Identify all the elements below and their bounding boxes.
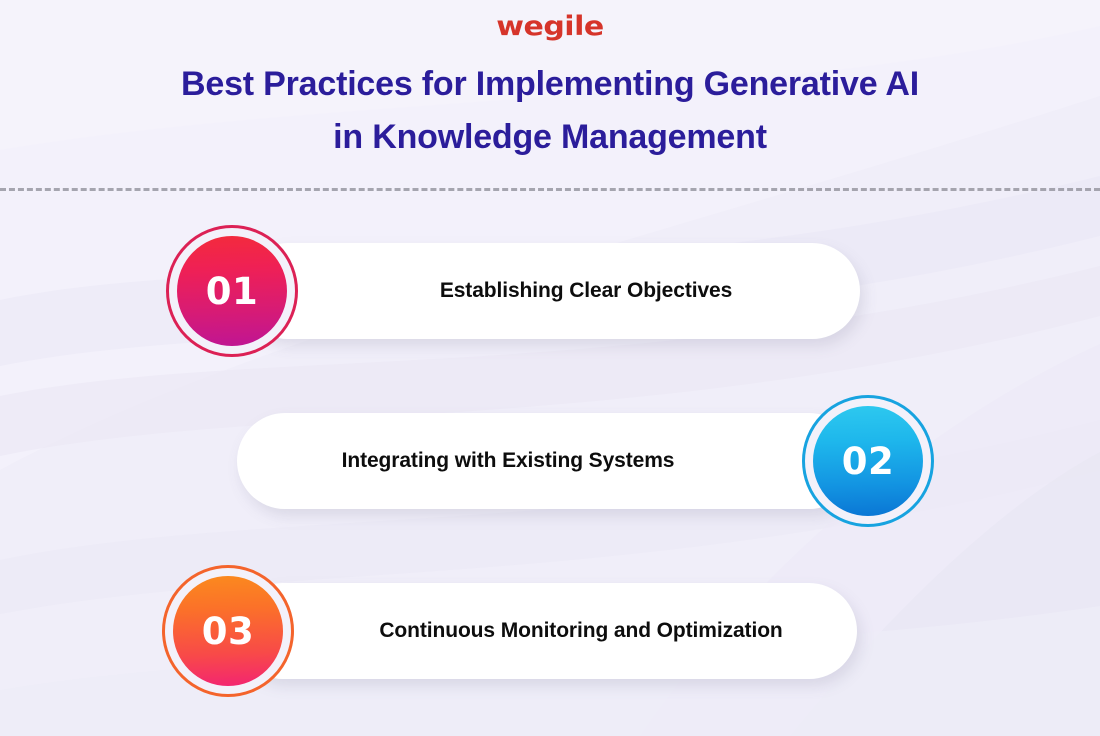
infographic-canvas: wegile Best Practices for Implementing G… bbox=[0, 0, 1100, 736]
step-label-2: Integrating with Existing Systems bbox=[237, 449, 857, 473]
page-title-line-1: Best Practices for Implementing Generati… bbox=[70, 58, 1030, 111]
step-row-3: Continuous Monitoring and Optimization 0… bbox=[0, 551, 1100, 711]
step-badge-1[interactable]: 01 bbox=[166, 225, 298, 357]
step-pill-1[interactable]: Establishing Clear Objectives bbox=[240, 243, 860, 339]
step-badge-3[interactable]: 03 bbox=[162, 565, 294, 697]
page-title-line-2: in Knowledge Management bbox=[70, 111, 1030, 164]
step-number-3: 03 bbox=[202, 610, 255, 653]
step-number-1: 01 bbox=[206, 270, 259, 313]
step-pill-2[interactable]: Integrating with Existing Systems bbox=[237, 413, 857, 509]
step-label-1: Establishing Clear Objectives bbox=[240, 279, 860, 303]
steps-list: Establishing Clear Objectives 01 Integra… bbox=[0, 189, 1100, 736]
step-row-2: Integrating with Existing Systems 02 bbox=[0, 381, 1100, 541]
step-pill-3[interactable]: Continuous Monitoring and Optimization bbox=[235, 583, 857, 679]
step-badge-2[interactable]: 02 bbox=[802, 395, 934, 527]
page-title: Best Practices for Implementing Generati… bbox=[70, 58, 1030, 163]
step-row-1: Establishing Clear Objectives 01 bbox=[0, 211, 1100, 371]
step-number-2: 02 bbox=[842, 440, 895, 483]
header: wegile Best Practices for Implementing G… bbox=[0, 0, 1100, 189]
wegile-logo[interactable]: wegile bbox=[496, 14, 603, 41]
step-label-3: Continuous Monitoring and Optimization bbox=[235, 619, 857, 643]
